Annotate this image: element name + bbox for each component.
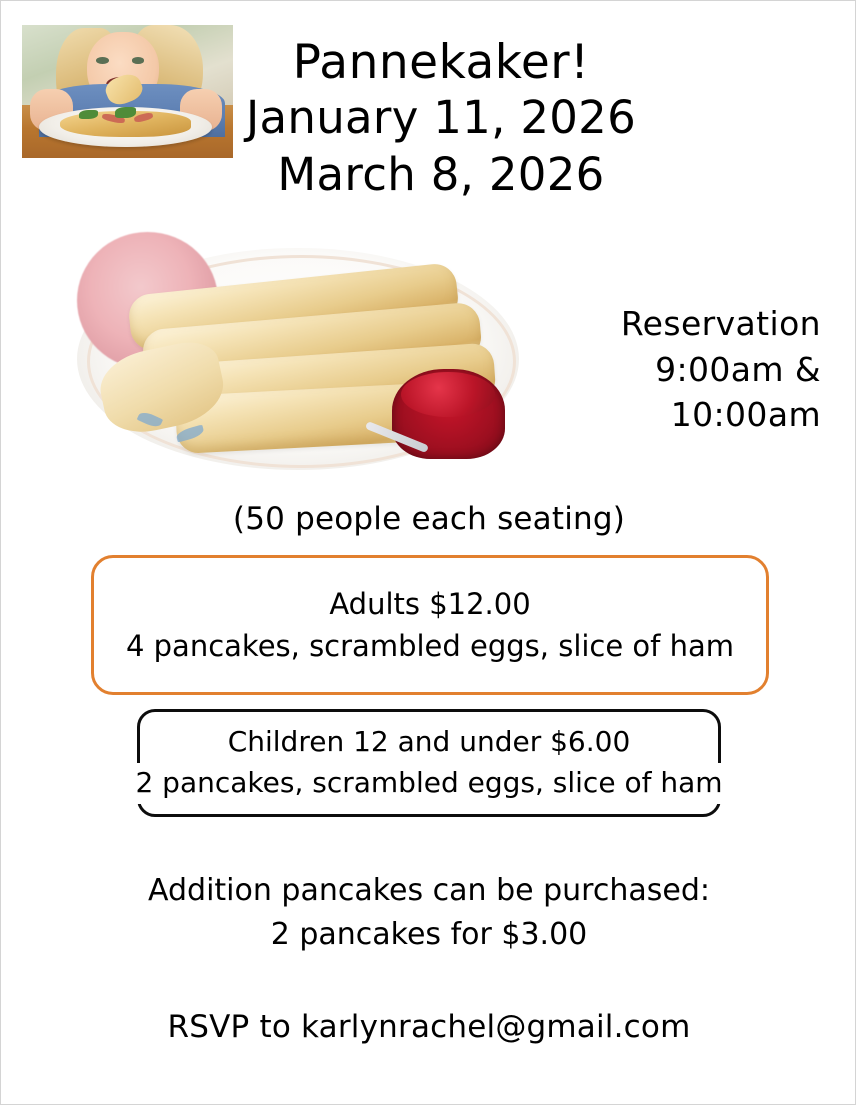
seating-capacity-note: (50 people each seating)	[89, 501, 769, 537]
adults-includes-label: 4 pancakes, scrambled eggs, slice of ham	[126, 625, 734, 667]
page-title: Pannekaker!	[161, 35, 721, 90]
rsvp-line: RSVP to karlynrachel@gmail.com	[89, 1009, 769, 1045]
adults-price-box: Adults $12.00 4 pancakes, scrambled eggs…	[91, 555, 769, 695]
photo-parsley-2	[115, 107, 136, 118]
additional-pancakes-block: Addition pancakes can be purchased: 2 pa…	[89, 869, 769, 956]
reservation-time-2: 10:00am	[531, 392, 821, 438]
event-date-1: January 11, 2026	[161, 90, 721, 146]
event-date-2: March 8, 2026	[161, 147, 721, 203]
additional-pancakes-line-2: 2 pancakes for $3.00	[89, 913, 769, 957]
raspberry-jam-surface	[401, 372, 495, 417]
plate-of-rolled-pancakes-photo	[63, 221, 533, 486]
flyer-page: Pannekaker! January 11, 2026 March 8, 20…	[0, 0, 856, 1105]
additional-pancakes-line-1: Addition pancakes can be purchased:	[89, 869, 769, 913]
children-includes-label: 2 pancakes, scrambled eggs, slice of ham	[134, 763, 723, 804]
reservation-time-1: 9:00am &	[531, 347, 821, 393]
adults-price-label: Adults $12.00	[329, 583, 530, 625]
children-price-label: Children 12 and under $6.00	[228, 722, 631, 763]
children-price-box: Children 12 and under $6.00 2 pancakes, …	[137, 709, 721, 817]
reservation-block: Reservation 9:00am & 10:00am	[531, 301, 821, 438]
headline-block: Pannekaker! January 11, 2026 March 8, 20…	[161, 35, 721, 203]
reservation-heading: Reservation	[531, 301, 821, 347]
girl-eye-right	[132, 57, 145, 64]
girl-eye-left	[96, 57, 109, 64]
